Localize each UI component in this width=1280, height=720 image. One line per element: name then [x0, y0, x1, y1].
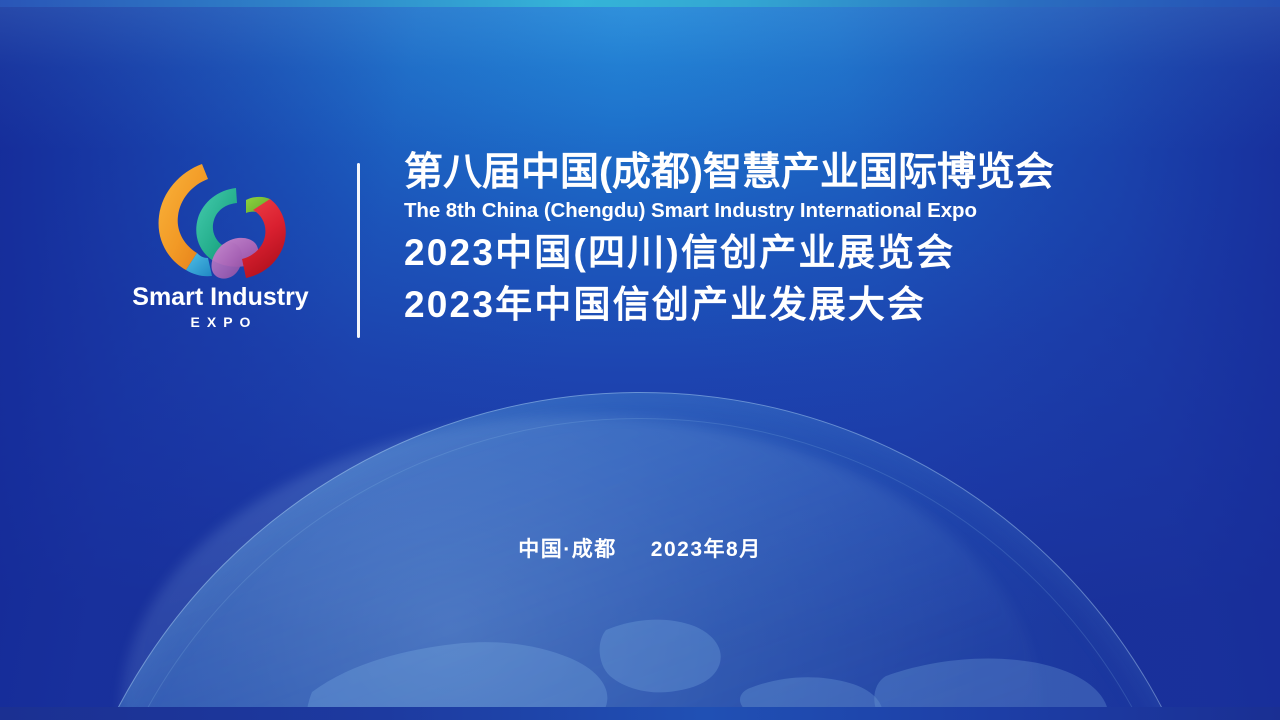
- background-top-accent-strip: [0, 0, 1280, 7]
- title-block: 第八届中国(成都)智慧产业国际博览会 The 8th China (Chengd…: [404, 150, 1194, 331]
- footer-info: 中国·成都2023年8月: [0, 533, 1280, 563]
- expo-banner: Smart Industry EXPO 第八届中国(成都)智慧产业国际博览会 T…: [0, 0, 1280, 720]
- footer-location: 中国·成都: [518, 538, 617, 561]
- footer-date: 2023年8月: [651, 538, 762, 561]
- title-line-1-cn: 第八届中国(成都)智慧产业国际博览会: [404, 150, 1194, 196]
- title-line-2-en: The 8th China (Chengdu) Smart Industry I…: [404, 198, 1194, 224]
- title-divider: [357, 163, 360, 338]
- title-line-4-cn: 2023年中国信创产业发展大会: [404, 279, 1194, 331]
- title-line-3-cn: 2023中国(四川)信创产业展览会: [404, 227, 1194, 279]
- background-top-sheen: [0, 0, 1280, 150]
- smart-industry-swoosh-logo-icon: [150, 152, 290, 282]
- logo-wordmark: Smart Industry: [118, 285, 323, 310]
- bottom-accent-band: [0, 707, 1280, 720]
- logo-sub-wordmark: EXPO: [118, 315, 323, 329]
- expo-logo: Smart Industry EXPO: [118, 152, 323, 342]
